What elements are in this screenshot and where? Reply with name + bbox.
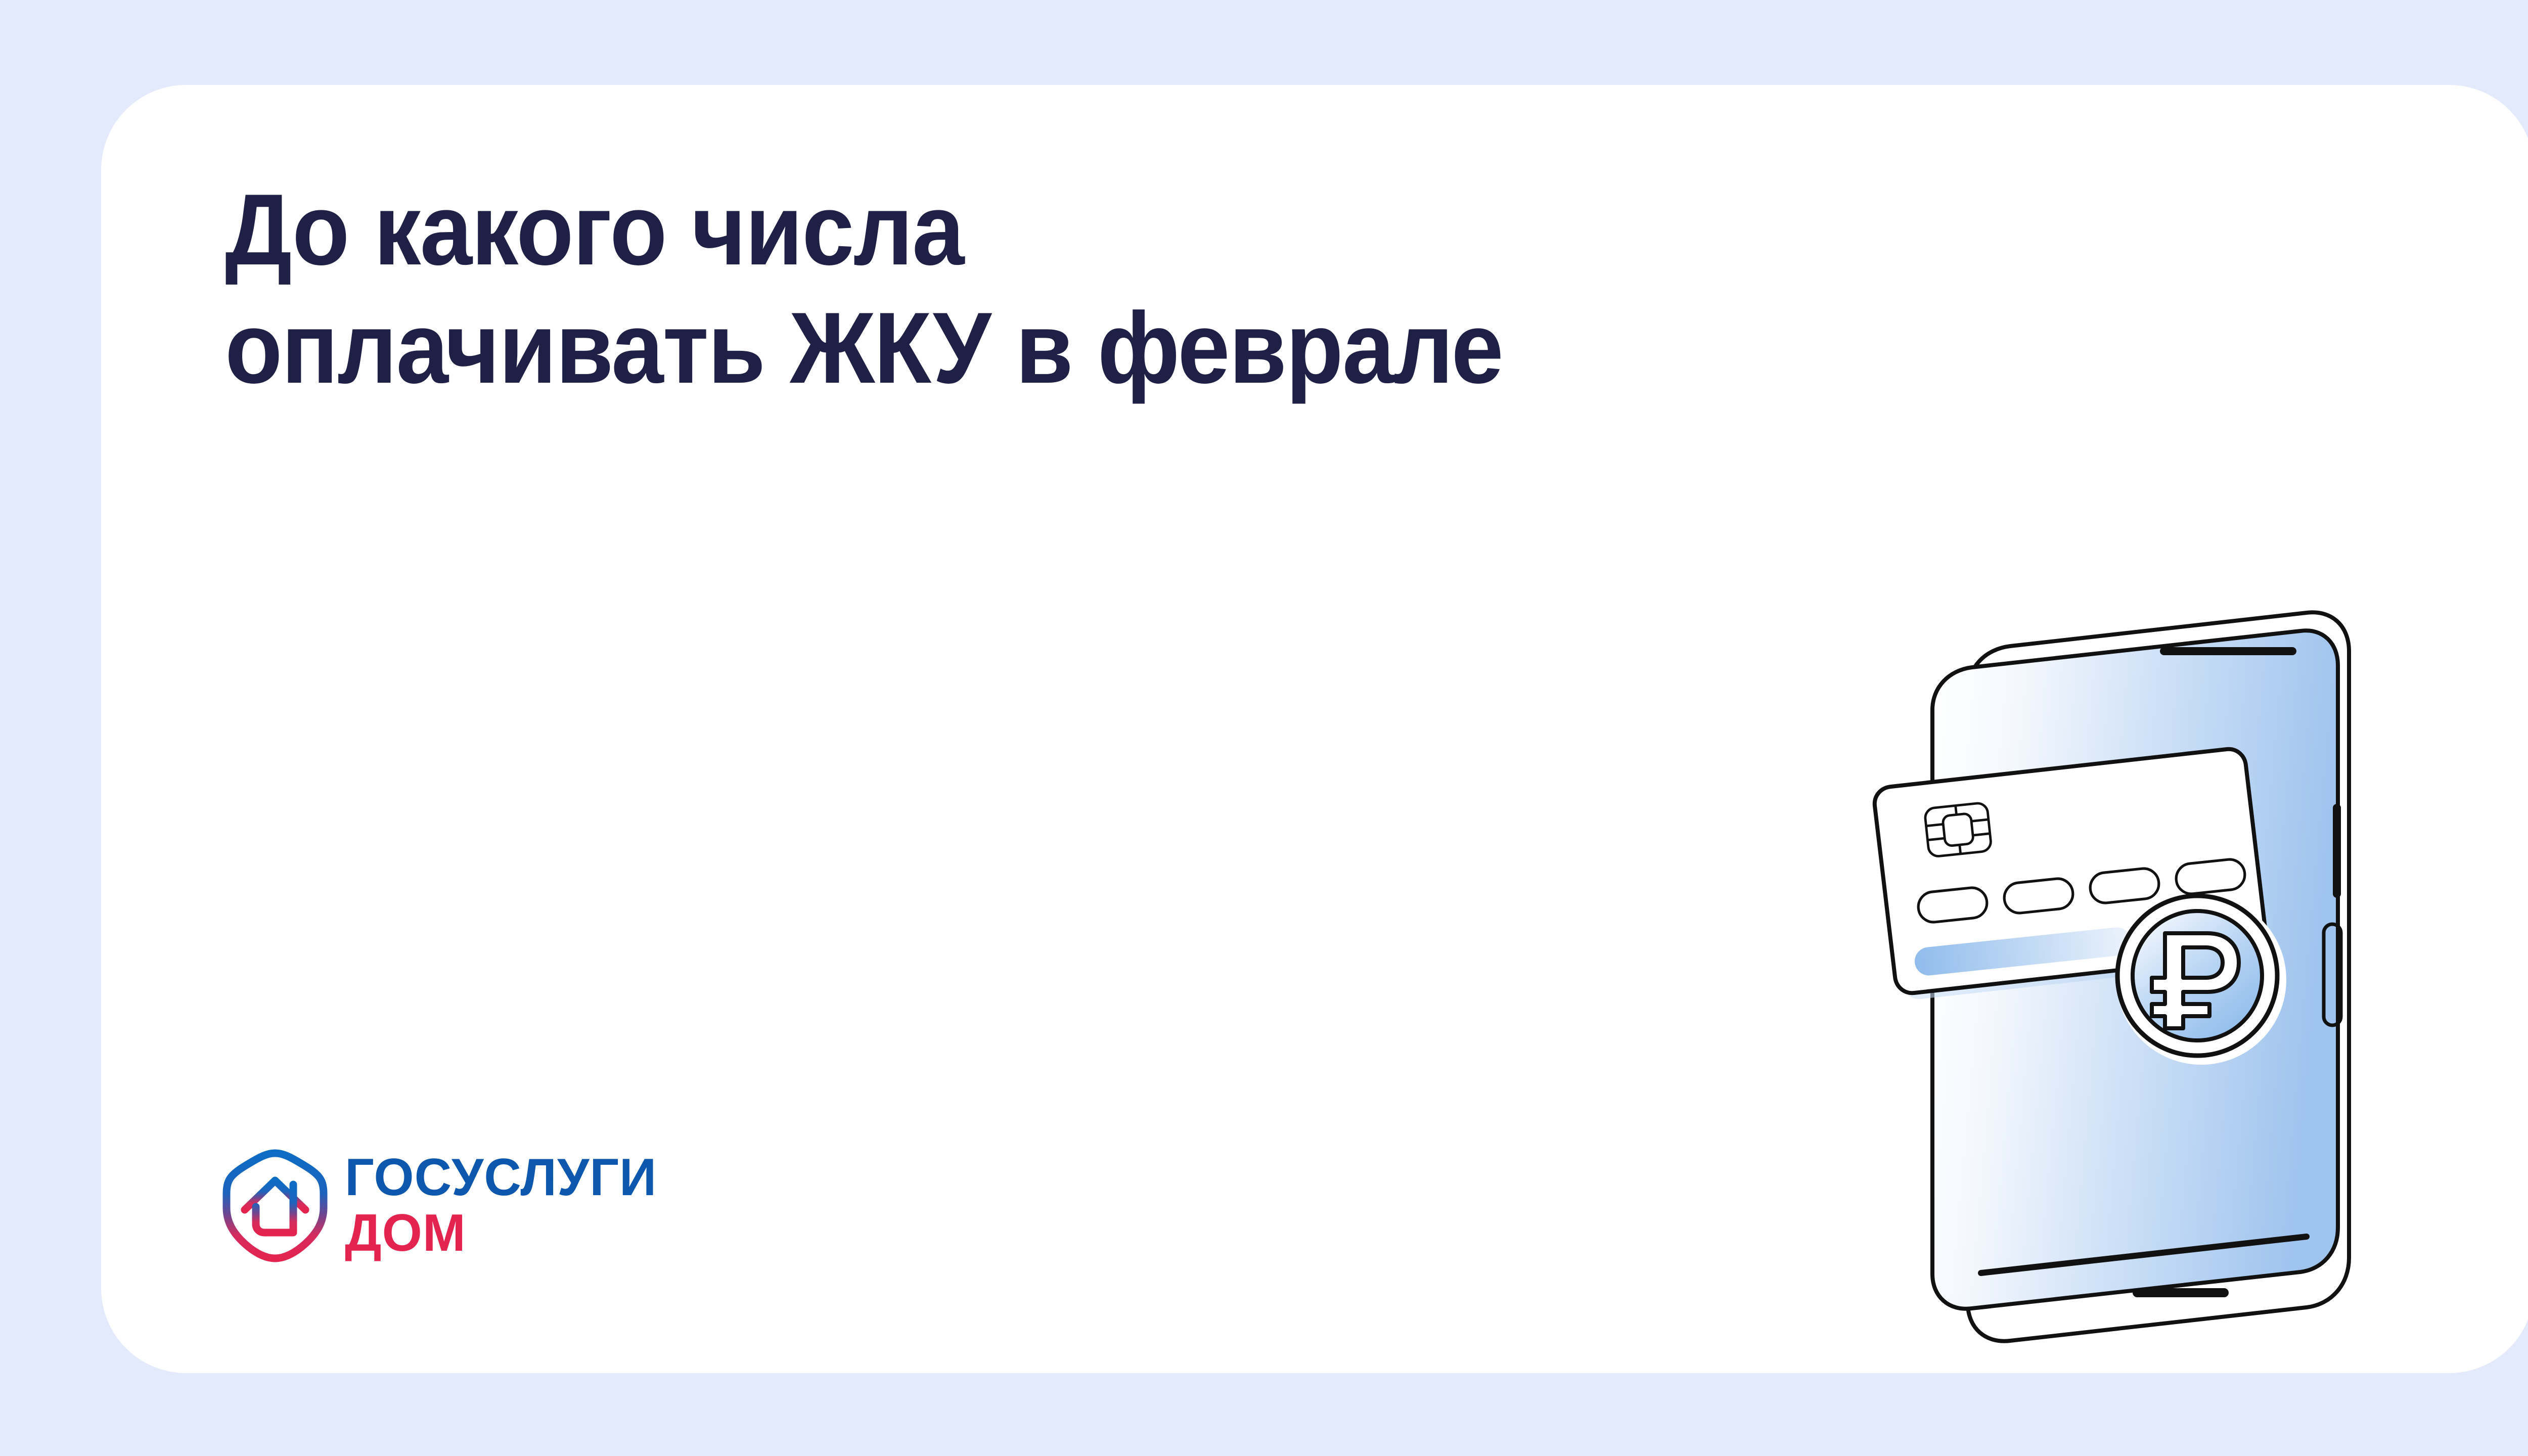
earpiece-speaker — [2160, 647, 2296, 655]
banner-canvas: До какого числа оплачивать ЖКУ в феврале — [0, 0, 2528, 1456]
page-title: До какого числа оплачивать ЖКУ в феврале — [225, 171, 1871, 407]
logo-wordmark: ГОСУСЛУГИ ДОМ — [345, 1153, 663, 1259]
logo-primary-text: ГОСУСЛУГИ — [345, 1153, 657, 1203]
white-content-card: До какого числа оплачивать ЖКУ в феврале — [101, 85, 2528, 1373]
ruble-coin — [2116, 895, 2286, 1065]
phone-card-coin-illustration — [1872, 590, 2438, 1364]
house-in-hexagon-icon — [222, 1149, 328, 1262]
logo-secondary-text: ДОМ — [345, 1208, 657, 1259]
home-indicator — [2133, 1288, 2229, 1297]
brand-logo[interactable]: ГОСУСЛУГИ ДОМ — [222, 1149, 663, 1262]
